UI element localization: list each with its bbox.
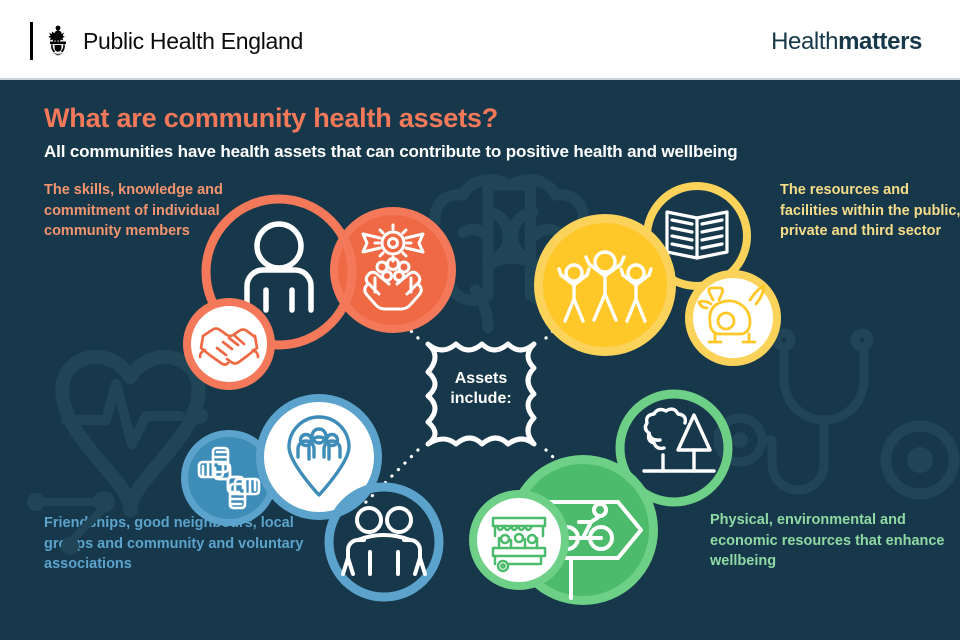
health-matters-brand: Healthmatters: [771, 28, 922, 56]
assets-include-burst: [422, 338, 540, 450]
brand-bold-part: matters: [838, 28, 922, 55]
person-icon: [247, 224, 311, 310]
target-icon: [886, 426, 954, 494]
royal-crest-icon: [43, 24, 73, 58]
two-people-arm-in-arm-icon: [343, 508, 425, 574]
logo-divider-rule: [30, 22, 33, 60]
group-resources-facilities[interactable]: [534, 186, 781, 366]
blue-outline-circle[interactable]: [329, 487, 439, 597]
burst-outline: [428, 344, 534, 444]
infographic-root: Public Health England Healthmatters What…: [0, 0, 960, 640]
page-header: Public Health England Healthmatters: [0, 0, 960, 80]
open-book-icon: [667, 212, 727, 258]
market-stall-white-circle[interactable]: [477, 498, 561, 582]
trees-icon: [644, 409, 714, 471]
network-nodes-icon: [27, 491, 115, 555]
organisation-name: Public Health England: [83, 28, 303, 55]
brand-light-part: Health: [771, 28, 838, 55]
public-health-england-logo: Public Health England: [30, 22, 303, 60]
group-individual-assets[interactable]: [183, 199, 456, 390]
group-social-connections[interactable]: [181, 394, 439, 597]
